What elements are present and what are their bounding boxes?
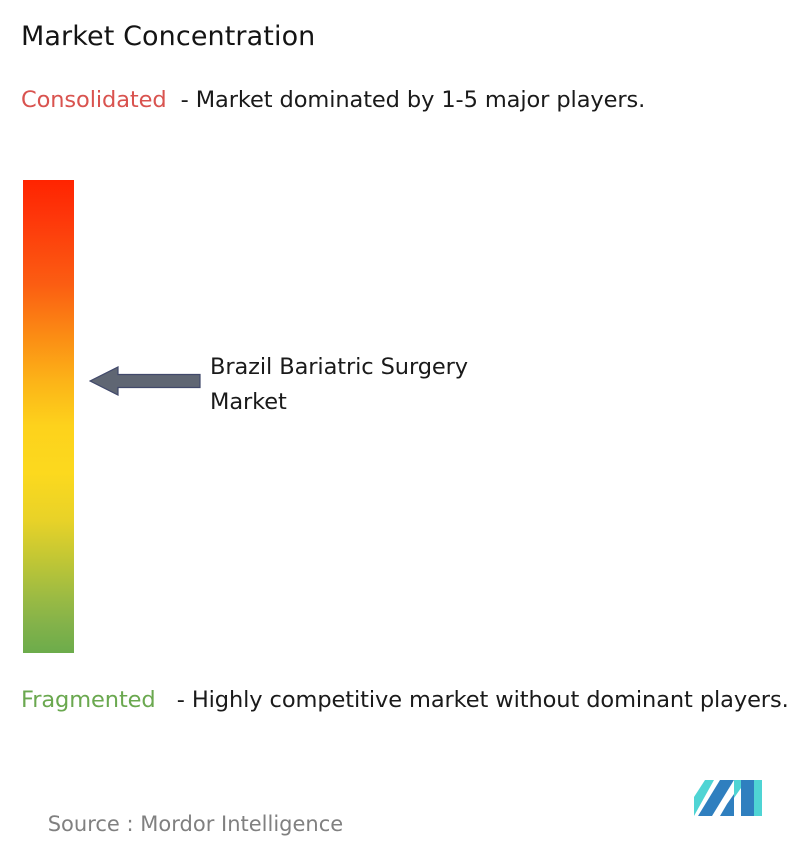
legend-key-fragmented: Fragmented xyxy=(21,687,156,713)
source-prefix: Source : xyxy=(48,812,134,836)
market-callout-label: Brazil Bariatric Surgery Market xyxy=(210,350,630,420)
legend-fragmented: Fragmented - Highly competitive market w… xyxy=(21,685,796,716)
legend-consolidated: Consolidated - Market dominated by 1-5 m… xyxy=(21,85,781,116)
source-attribution: Source : Mordor Intelligence xyxy=(21,782,343,866)
legend-key-consolidated: Consolidated xyxy=(21,87,167,113)
legend-separator-consolidated: - xyxy=(167,87,196,113)
page-title: Market Concentration xyxy=(21,20,315,54)
chart-canvas: Market Concentration Consolidated - Mark… xyxy=(0,0,796,834)
legend-description-consolidated: Market dominated by 1-5 major players. xyxy=(196,87,645,113)
market-callout-label-line1: Brazil Bariatric Surgery xyxy=(210,350,630,385)
legend-description-fragmented: Highly competitive market without domina… xyxy=(192,687,789,713)
mordor-intelligence-logo xyxy=(694,772,762,820)
legend-separator-fragmented: - xyxy=(156,687,192,713)
market-position-arrow xyxy=(89,365,201,397)
market-callout-label-line2: Market xyxy=(210,385,630,420)
source-name: Mordor Intelligence xyxy=(140,812,343,836)
market-concentration-gradient-bar xyxy=(23,180,74,653)
